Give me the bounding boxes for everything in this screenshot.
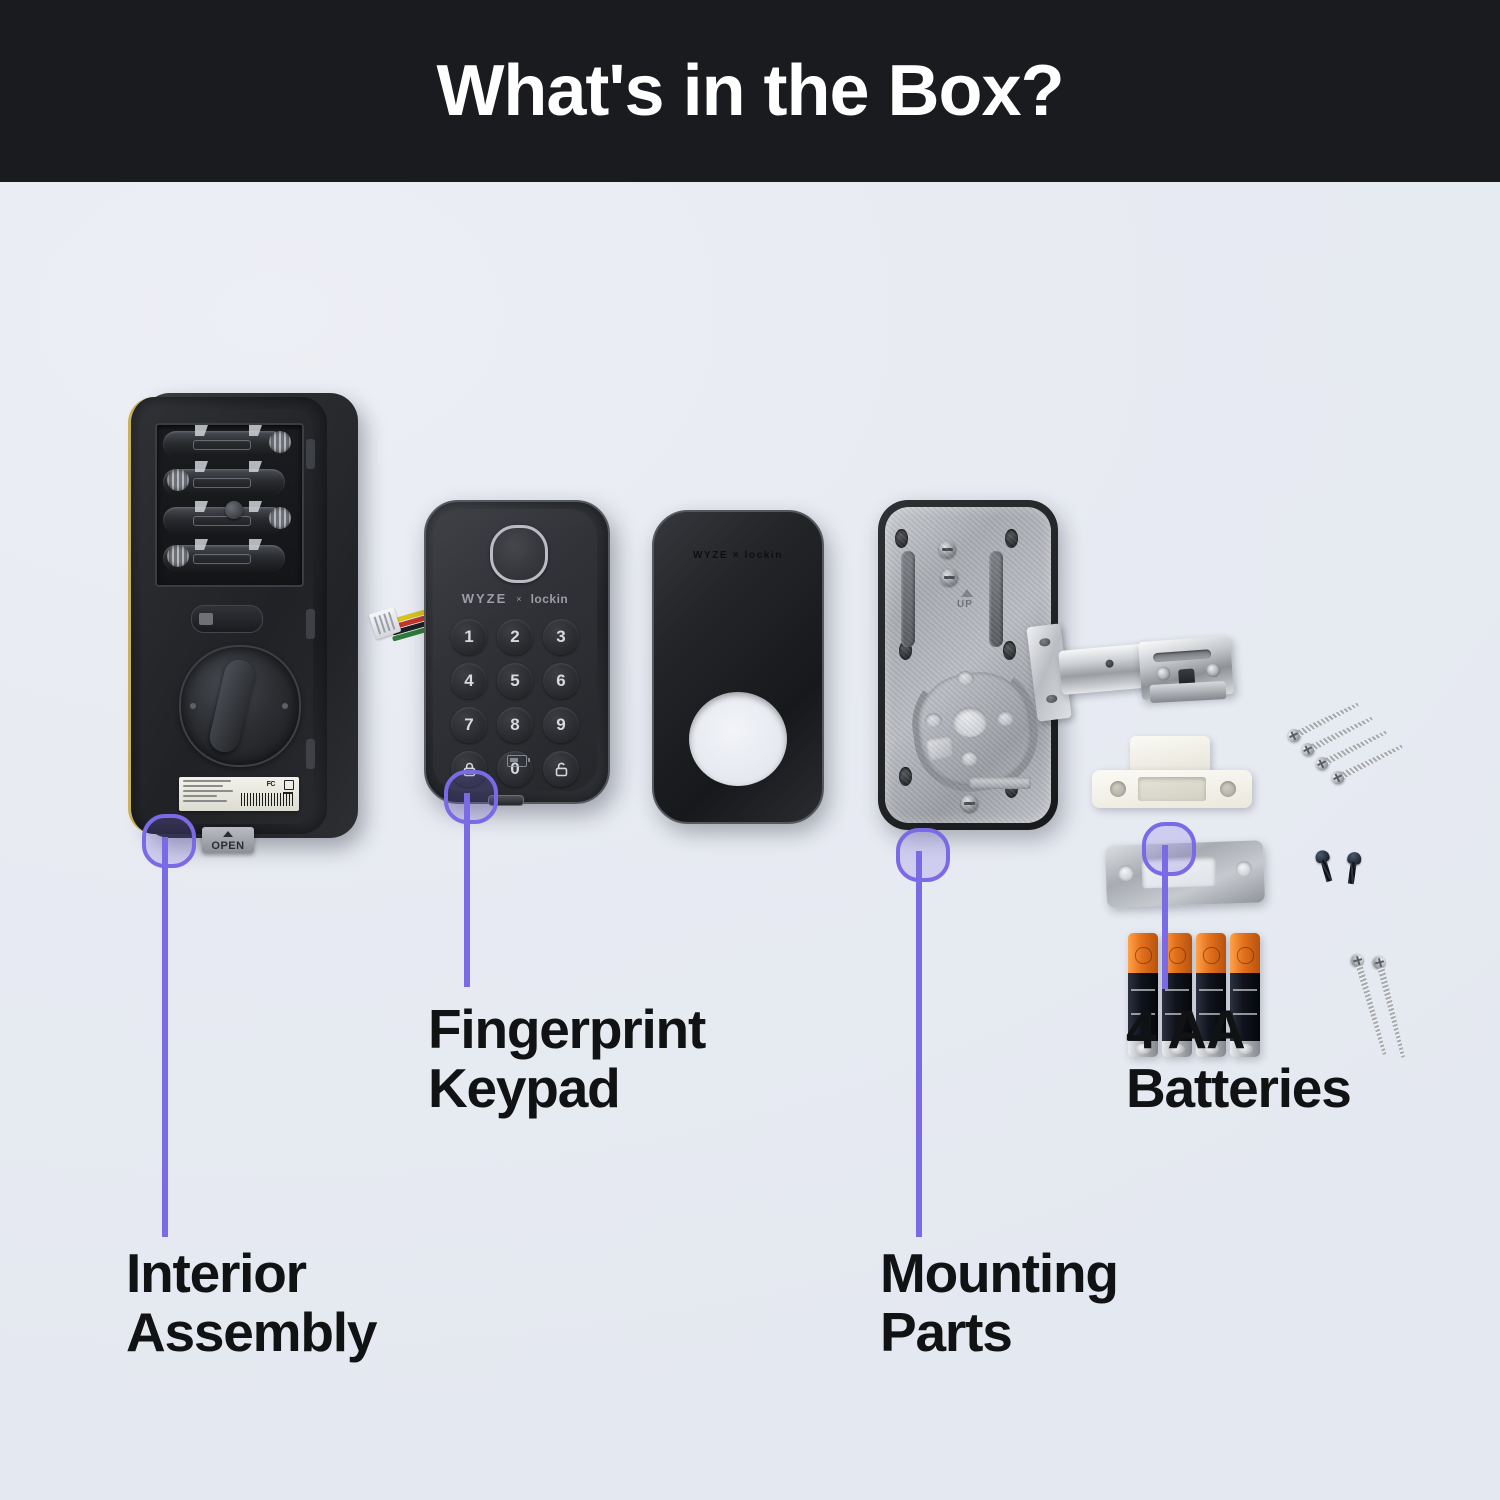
cover-plate-brand: WYZE × lockin [654,550,822,561]
battery-spring [269,507,291,529]
unlock-icon [553,761,570,778]
callout-marker-aa-batteries[interactable] [1142,822,1196,876]
mount-hole [895,529,908,548]
callout-label-interior-assembly: Interior Assembly [126,1244,376,1363]
header-bar: What's in the Box? [0,0,1500,182]
callout-leader-line [916,851,922,1237]
battery-cover-open-tab: OPEN [202,827,254,853]
plate-screw [961,795,978,812]
bolt-head [1350,953,1366,969]
cover-plate-body: WYZE × lockin [652,510,824,824]
key-9[interactable]: 9 [543,707,579,743]
callout-label-mounting-parts: Mounting Parts [880,1244,1118,1363]
part-machine-screws [1318,850,1388,900]
keypad-ribbon-cable [372,606,428,640]
adjustment-slot [901,551,915,647]
strike-plate-hole [1118,865,1135,882]
tab-cutout [925,735,954,761]
part-cover-plate: WYZE × lockin [652,510,820,820]
brand-wyze: WYZE [462,591,508,606]
alignment-hole [957,671,974,686]
battery-positive-end [1230,933,1260,977]
up-arrow-icon [961,589,973,597]
open-arrow-icon [223,831,233,837]
battery-spring [269,431,291,453]
plate-screw [939,541,956,558]
strike-plate-hole [1236,861,1253,878]
product-photo-stage: FC OPEN [0,182,1500,1500]
latch-screw [1206,663,1221,678]
callout-marker-mounting-parts[interactable] [896,828,950,882]
product-label: FC [179,777,299,811]
battery-positive-end [1128,933,1158,977]
orientation-label: UP [943,599,987,610]
mount-hole [1005,529,1018,548]
barcode [241,793,293,806]
keypad-brand-lockup: WYZE × lockin [433,591,597,606]
latch-tailpiece [1150,681,1227,703]
brand-separator: × [516,594,521,604]
brand-lockin: lockin [531,592,569,606]
mount-hole [1003,641,1016,660]
rotation-guide-arc [905,659,1045,799]
alignment-hole [997,711,1014,726]
strike-box-opening [1138,777,1206,801]
unlock-icon-key[interactable] [543,751,579,787]
callout-leader-line [1162,845,1168,989]
callout-label-aa-batteries: 4 AA Batteries [1126,1000,1351,1119]
mount-hole [1005,779,1018,798]
thumb-turn-cutout [689,692,787,786]
key-1[interactable]: 1 [451,619,487,655]
key-5[interactable]: 5 [497,663,533,699]
knob-pivot-dot [282,703,288,709]
key-8[interactable]: 8 [497,707,533,743]
part-deadbolt-latch [1032,625,1232,735]
compartment-screw [225,501,243,519]
part-mounting-bolts [1352,950,1442,1060]
bolt-head [1372,955,1388,971]
open-tab-label: OPEN [211,839,244,853]
strike-box-hole [1110,781,1126,797]
key-2[interactable]: 2 [497,619,533,655]
key-6[interactable]: 6 [543,663,579,699]
battery-positive-end [1196,933,1226,977]
battery-compartment [155,423,304,587]
strike-box-hole [1220,781,1236,797]
alignment-hole [961,751,978,766]
callout-leader-line [162,837,168,1237]
interior-inner-cavity: FC [141,409,313,824]
battery-status-icon [507,755,527,767]
part-fingerprint-keypad: WYZE × lockin 1 2 3 4 5 6 7 8 9 [424,500,606,800]
battery-spring [167,469,189,491]
latch-screw [1156,666,1171,681]
callout-leader-line [464,793,470,987]
strike-box-flange [1092,770,1252,808]
weee-symbol [283,780,293,794]
keypad-faceplate: WYZE × lockin 1 2 3 4 5 6 7 8 9 [433,509,597,791]
mount-hole [899,641,912,660]
mounting-plate-metal: UP [885,507,1051,823]
thumb-turn-knob [179,645,301,767]
reset-button-slot [191,605,263,633]
spindle-hole [953,707,987,737]
battery-spring [167,545,189,567]
plate-screw [941,569,958,586]
battery-slot [163,431,285,457]
fingerprint-sensor-icon[interactable] [490,525,548,583]
thumb-turn-lever [207,657,257,755]
callout-label-fingerprint-keypad: Fingerprint Keypad [428,1000,705,1119]
knob-pivot-dot [190,703,196,709]
page-title: What's in the Box? [436,50,1063,132]
battery-slot [163,507,285,533]
latch-slot [1153,649,1211,662]
key-4[interactable]: 4 [451,663,487,699]
part-strike-box [1092,736,1252,808]
whats-in-the-box-infographic: What's in the Box? [0,0,1500,1500]
callout-marker-fingerprint-keypad[interactable] [444,770,498,824]
part-wood-screws [1288,682,1428,782]
adjustment-slot [989,551,1003,647]
cable-channel [969,777,1031,789]
interior-front-shell: FC [128,397,327,834]
machine-screw [1344,851,1362,885]
alignment-hole [925,713,942,728]
keypad-housing: WYZE × lockin 1 2 3 4 5 6 7 8 9 [424,500,610,804]
fcc-mark: FC [267,781,275,788]
key-7[interactable]: 7 [451,707,487,743]
key-3[interactable]: 3 [543,619,579,655]
mount-hole [899,767,912,786]
label-text-lines [183,780,235,805]
machine-screw [1314,849,1336,884]
wood-screw [1314,728,1388,770]
callout-marker-interior-assembly[interactable] [142,814,196,868]
part-interior-assembly: FC OPEN [128,393,358,838]
